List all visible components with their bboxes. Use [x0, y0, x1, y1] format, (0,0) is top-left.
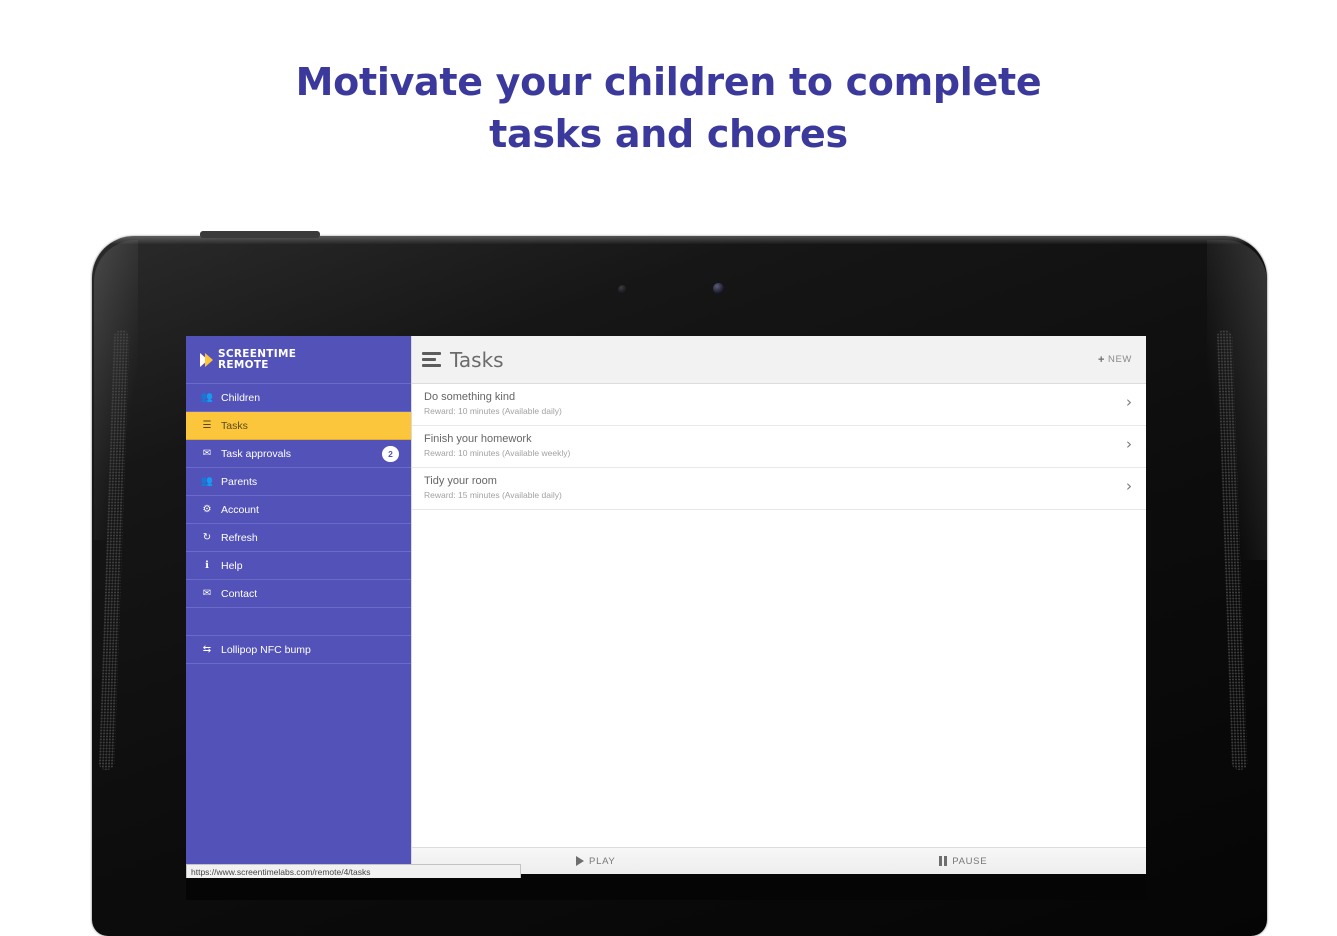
- sidebar-item-contact[interactable]: ✉ Contact: [186, 580, 411, 608]
- plus-icon: +: [1098, 354, 1105, 366]
- sidebar-item-label: Parents: [221, 476, 257, 488]
- list-item[interactable]: Finish your homework Reward: 10 minutes …: [412, 426, 1146, 468]
- sidebar-item-tasks[interactable]: ☰ Tasks: [186, 412, 411, 440]
- sidebar-item-label: Refresh: [221, 532, 258, 544]
- pause-label: PAUSE: [952, 856, 987, 867]
- gear-icon: ⚙: [200, 505, 214, 515]
- app-logo-line-2: REMOTE: [218, 360, 296, 371]
- pause-icon: [939, 856, 947, 866]
- browser-status-url: https://www.screentimelabs.com/remote/4/…: [186, 864, 521, 878]
- content-topbar: Tasks + NEW: [412, 336, 1146, 384]
- tablet-front-camera-icon: [713, 283, 724, 294]
- sidebar-item-lollipop-nfc-bump[interactable]: ⇆ Lollipop NFC bump: [186, 636, 411, 664]
- task-list: Do something kind Reward: 10 minutes (Av…: [412, 384, 1146, 510]
- list-icon: ☰: [200, 421, 214, 431]
- sidebar-item-label: Contact: [221, 588, 257, 600]
- mail-icon: ✉: [200, 589, 214, 599]
- double-chevron-right-icon: [200, 353, 210, 367]
- group-icon: 👥: [200, 393, 214, 403]
- player-bar: PLAY PAUSE: [412, 847, 1146, 874]
- app-logo-line-1: SCREENTIME: [218, 349, 296, 360]
- sidebar-item-label: Task approvals: [221, 448, 291, 460]
- sidebar-spacer-row: [186, 608, 411, 636]
- new-task-label: NEW: [1108, 354, 1132, 365]
- page-headline: Motivate your children to complete tasks…: [0, 56, 1337, 160]
- tablet-screen: SCREENTIME REMOTE 👥 Children ☰ Tasks ✉ T…: [186, 336, 1146, 874]
- app-logo-text: SCREENTIME REMOTE: [218, 349, 296, 371]
- sidebar-item-refresh[interactable]: ↻ Refresh: [186, 524, 411, 552]
- list-item[interactable]: Tidy your room Reward: 15 minutes (Avail…: [412, 468, 1146, 510]
- play-icon: [576, 856, 584, 866]
- group-icon: 👥: [200, 477, 214, 487]
- play-label: PLAY: [589, 856, 615, 867]
- mail-icon: ✉: [200, 449, 214, 459]
- new-task-button[interactable]: + NEW: [1098, 354, 1132, 366]
- sidebar-item-label: Lollipop NFC bump: [221, 644, 311, 656]
- task-title: Tidy your room: [424, 474, 1112, 489]
- info-icon: ℹ: [200, 561, 214, 571]
- chevron-right-icon[interactable]: ›: [1126, 437, 1132, 452]
- headline-line-1: Motivate your children to complete: [296, 60, 1042, 104]
- refresh-icon: ↻: [200, 533, 214, 543]
- headline-line-2: tasks and chores: [0, 108, 1337, 160]
- sidebar-item-parents[interactable]: 👥 Parents: [186, 468, 411, 496]
- sidebar-item-label: Help: [221, 560, 243, 572]
- chevron-right-icon[interactable]: ›: [1126, 479, 1132, 494]
- status-badge: 2: [382, 446, 399, 462]
- list-item[interactable]: Do something kind Reward: 10 minutes (Av…: [412, 384, 1146, 426]
- sidebar-item-help[interactable]: ℹ Help: [186, 552, 411, 580]
- tablet-power-button[interactable]: [200, 231, 320, 238]
- task-detail: Reward: 10 minutes (Available weekly): [424, 447, 1112, 460]
- sidebar-item-label: Children: [221, 392, 260, 404]
- app-logo[interactable]: SCREENTIME REMOTE: [186, 336, 411, 384]
- sidebar-item-label: Account: [221, 504, 259, 516]
- task-title: Finish your homework: [424, 432, 1112, 447]
- task-detail: Reward: 15 minutes (Available daily): [424, 489, 1112, 502]
- chevron-right-icon[interactable]: ›: [1126, 395, 1132, 410]
- page-title: Tasks: [450, 348, 504, 372]
- sidebar-item-children[interactable]: 👥 Children: [186, 384, 411, 412]
- task-title: Do something kind: [424, 390, 1112, 405]
- tablet-sensor-icon: [618, 285, 627, 294]
- app-sidebar: SCREENTIME REMOTE 👥 Children ☰ Tasks ✉ T…: [186, 336, 411, 874]
- sidebar-item-label: Tasks: [221, 420, 248, 432]
- main-content: Tasks + NEW Do something kind Reward: 10…: [411, 336, 1146, 874]
- task-detail: Reward: 10 minutes (Available daily): [424, 405, 1112, 418]
- list-icon: [422, 352, 441, 367]
- nfc-icon: ⇆: [200, 645, 214, 655]
- sidebar-item-task-approvals[interactable]: ✉ Task approvals 2: [186, 440, 411, 468]
- sidebar-item-account[interactable]: ⚙ Account: [186, 496, 411, 524]
- pause-button[interactable]: PAUSE: [780, 848, 1147, 874]
